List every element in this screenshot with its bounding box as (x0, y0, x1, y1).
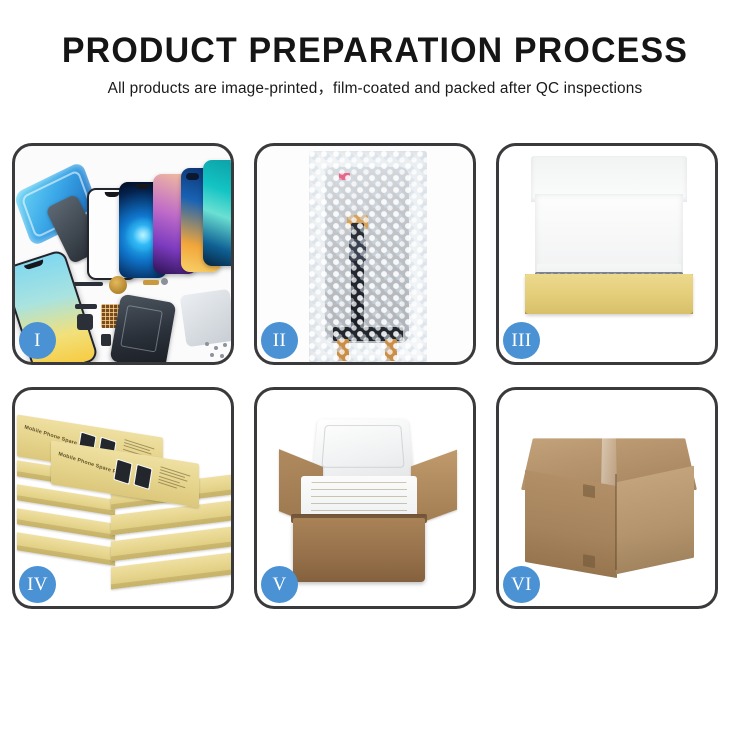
tweezers-tool-icon (180, 289, 231, 347)
flex-cable-part-icon (143, 280, 159, 285)
process-step-panel-1[interactable]: I (12, 143, 234, 365)
bubble-highlight-layer (309, 151, 427, 362)
phone-notch-icon (24, 260, 44, 271)
page-title: PRODUCT PREPARATION PROCESS (11, 30, 739, 72)
box-spec-lines (158, 466, 193, 494)
process-step-panel-2[interactable]: II (254, 143, 476, 365)
carton-corner-seam-icon (615, 474, 617, 570)
antenna-part-icon (75, 304, 97, 309)
process-step-grid: I II (12, 143, 738, 609)
phone-camera-icon (186, 173, 199, 180)
phone-notch-icon (105, 192, 120, 197)
phone-backplate-icon (110, 294, 177, 362)
step-badge-4: IV (19, 566, 56, 603)
bubble-wrap-bag-icon (309, 151, 427, 362)
box-window-image (113, 459, 132, 485)
sim-tray-icon (101, 334, 111, 346)
step-badge-3: III (503, 322, 540, 359)
step-badge-5: V (261, 566, 298, 603)
button-part-icon (161, 278, 168, 285)
process-step-panel-5[interactable]: V (254, 387, 476, 609)
taptic-engine-icon (109, 276, 127, 294)
teal-wallpaper-phone-icon (203, 160, 231, 266)
shipping-carton-body-icon (293, 518, 425, 582)
carton-notch-icon (583, 554, 595, 568)
carton-side-face-icon (616, 466, 694, 575)
process-step-panel-6[interactable]: VI (496, 387, 718, 609)
page-subtitle: All products are image-printed，film-coat… (0, 78, 750, 100)
carton-notch-icon (583, 484, 595, 498)
process-step-panel-4[interactable]: Mobile Phone Spare Parts Mobile Phone Sp… (12, 387, 234, 609)
yellow-tray-box-icon (525, 274, 693, 314)
camera-module-icon (77, 314, 93, 330)
step-badge-6: VI (503, 566, 540, 603)
foam-box-lid-icon (312, 419, 414, 478)
process-step-panel-3[interactable]: III (496, 143, 718, 365)
carton-front-face-icon (525, 470, 617, 578)
box-window-image (133, 464, 152, 490)
screws-group-icon (205, 342, 231, 360)
step-badge-2: II (261, 322, 298, 359)
speaker-part-icon (73, 282, 103, 286)
step-badge-1: I (19, 322, 56, 359)
phone-notch-icon (135, 184, 150, 189)
page-header: PRODUCT PREPARATION PROCESS All products… (0, 0, 750, 100)
